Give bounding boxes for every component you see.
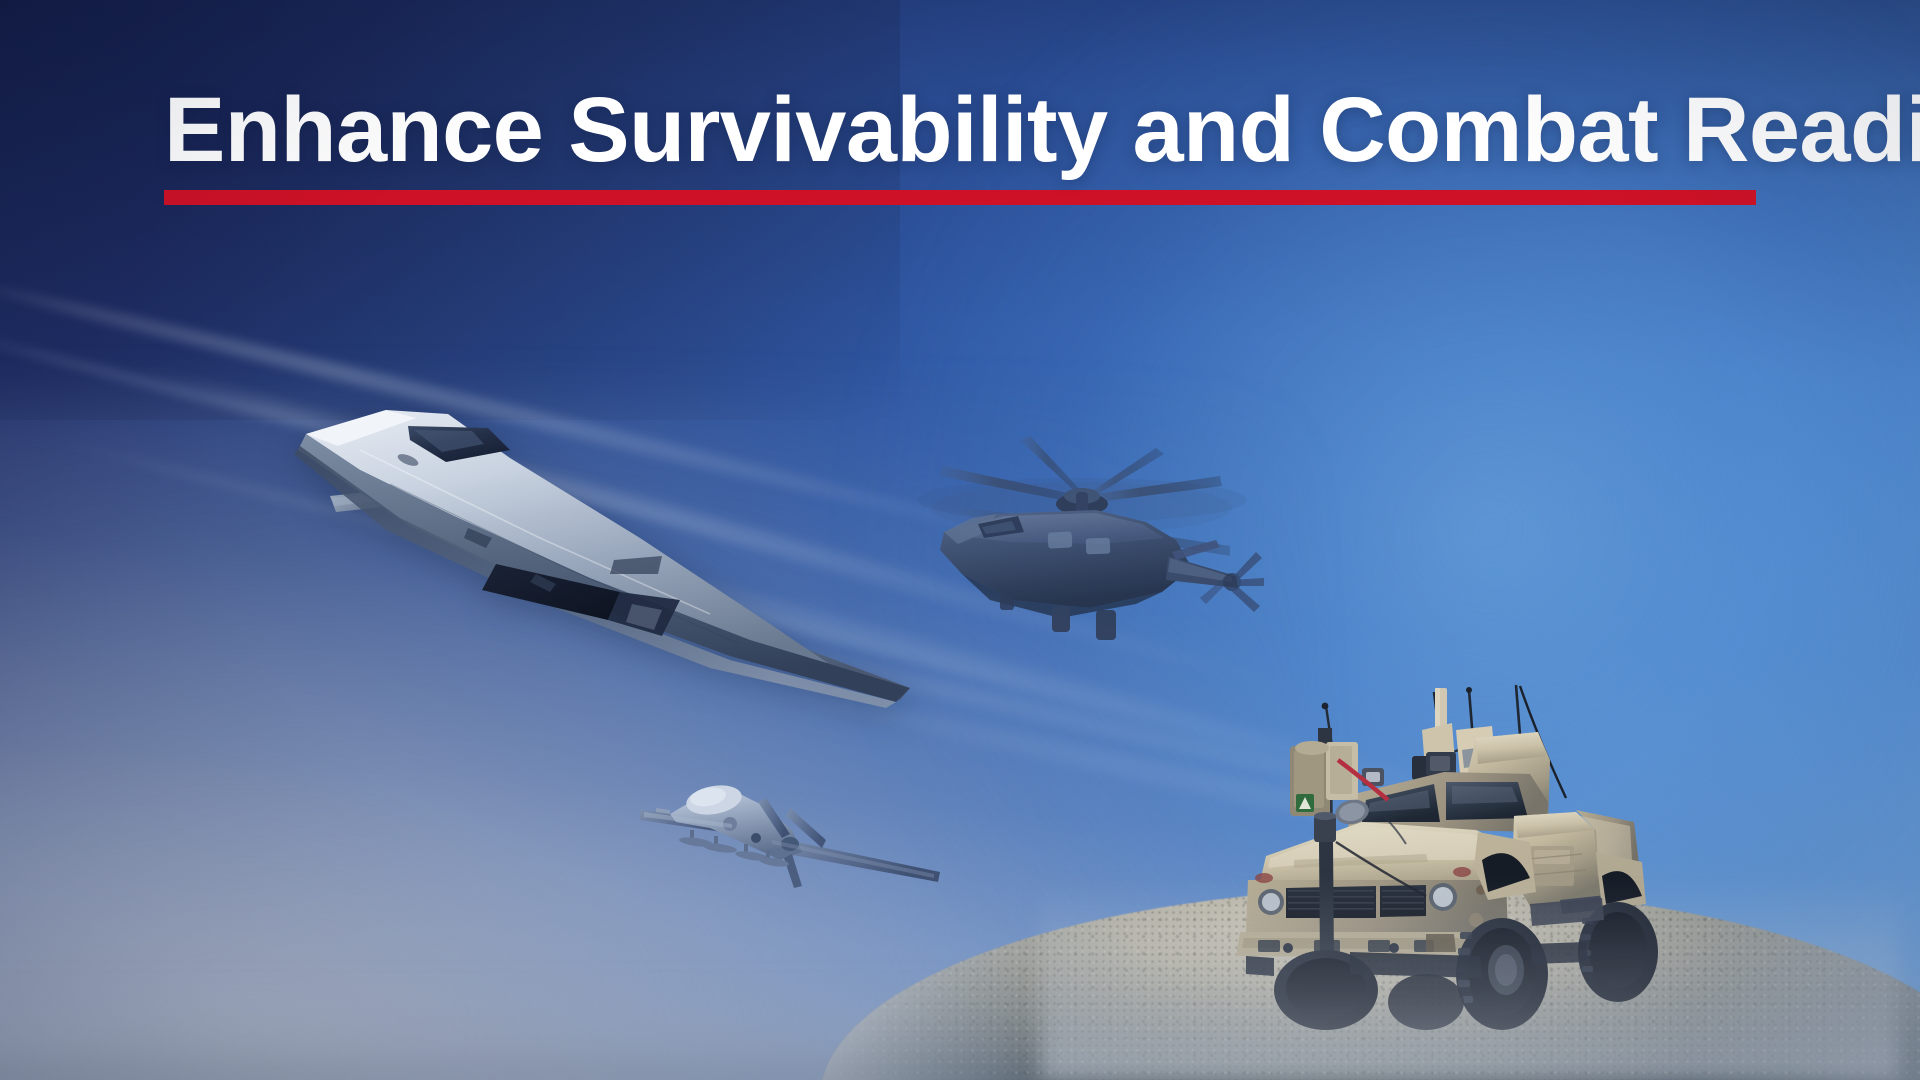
page-title: Enhance Survivability and Combat Readine… [164, 84, 1784, 178]
unmanned-aerial-vehicle [640, 768, 950, 918]
title-accent-rule [164, 190, 1756, 205]
stealth-fighter-aircraft [210, 388, 930, 718]
ground-left-haze [0, 978, 1020, 1080]
foreground-base-haze [1040, 880, 1900, 1080]
hero-banner: Enhance Survivability and Combat Readine… [0, 0, 1920, 1080]
hero-title-block: Enhance Survivability and Combat Readine… [164, 84, 1784, 205]
compound-helicopter [900, 428, 1270, 658]
